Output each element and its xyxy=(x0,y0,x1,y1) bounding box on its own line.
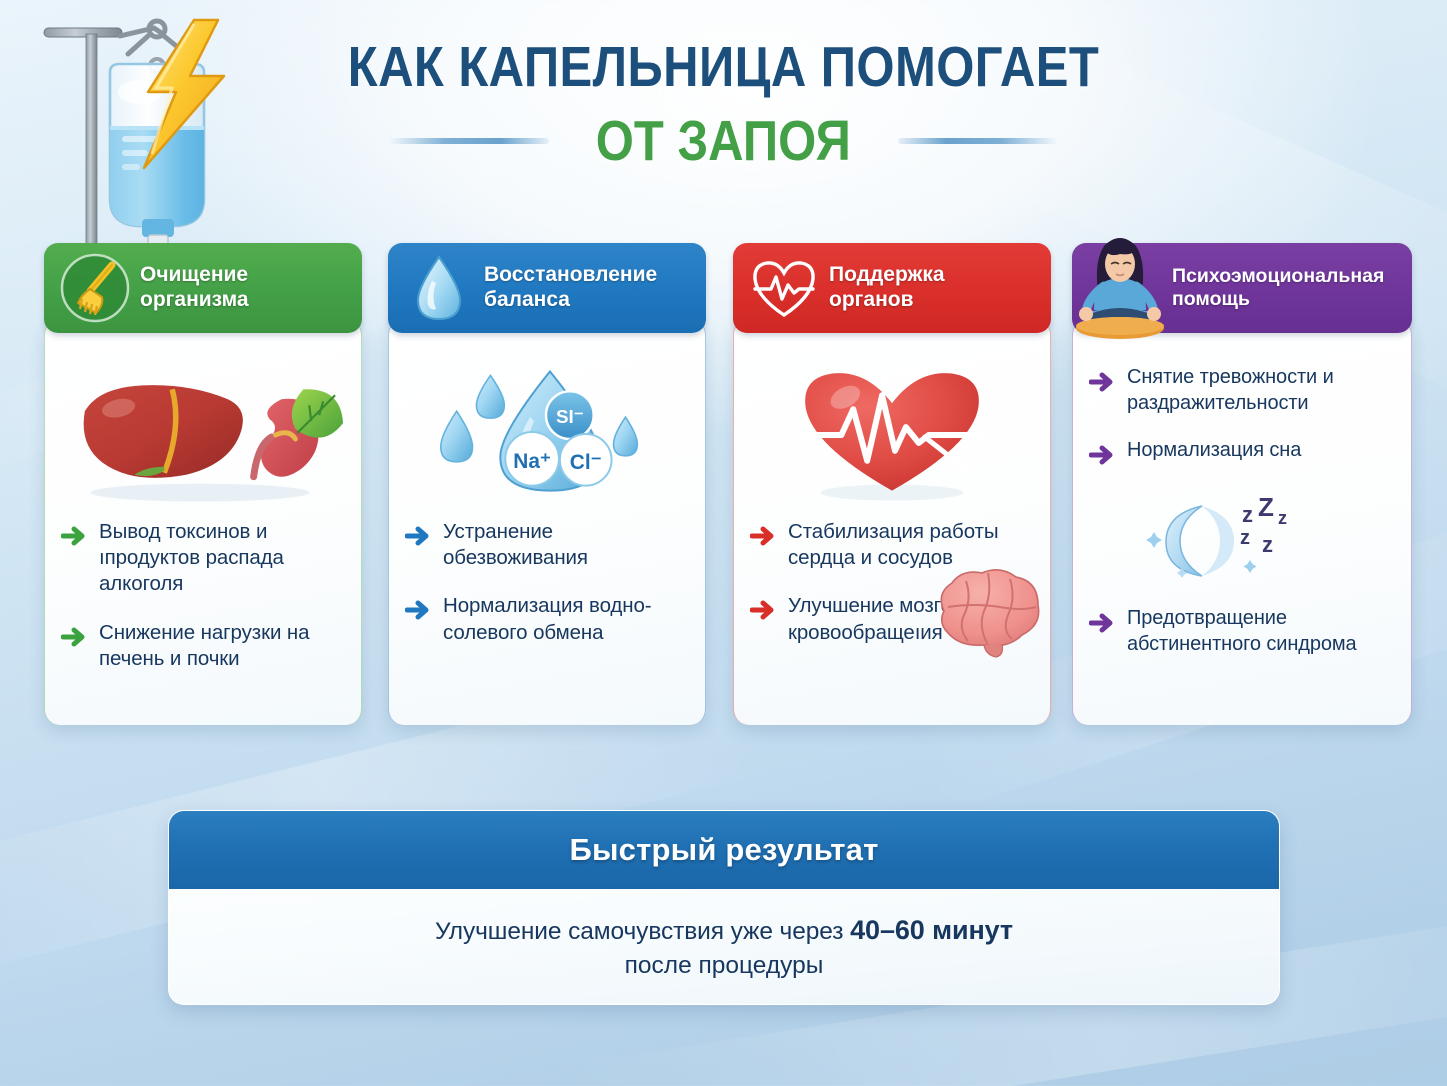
title-line-1: КАК КАПЕЛЬНИЦА ПОМОГАЕТ xyxy=(101,34,1345,100)
arrow-right-icon xyxy=(750,523,777,549)
card-header-line2: органов xyxy=(829,288,914,311)
result-banner-body: Улучшение самочувствия уже через 40–60 м… xyxy=(169,889,1279,1005)
result-banner-line1: Улучшение самочувствия уже через 40–60 м… xyxy=(435,915,1013,946)
title-rule-right xyxy=(898,138,1058,144)
arrow-right-icon xyxy=(61,624,88,650)
arrow-right-icon xyxy=(1089,369,1116,395)
sleeping-moon-zzz-icon: z Z z z z xyxy=(1089,496,1395,582)
card-body-organs: Стабилизация работы сердца и сосудов Улу… xyxy=(733,319,1051,725)
result-banner-line2: после процедуры xyxy=(625,952,824,980)
card-header-line2: организма xyxy=(140,288,249,311)
list-item-label: Нормализация водно-солевого обмена xyxy=(443,593,689,645)
list-item-label: Нормализация сна xyxy=(1127,438,1301,464)
card-header-line1: Очищение xyxy=(140,263,248,286)
benefit-cards: Очищение организма xyxy=(0,243,1447,743)
arrow-right-icon xyxy=(61,523,88,549)
card-organs[interactable]: Поддержка органов xyxy=(733,243,1051,725)
list-item-label: Вывод токсинов и ıпродуктов распада алко… xyxy=(99,519,345,598)
card-cleansing[interactable]: Очищение организма xyxy=(44,243,362,725)
liver-kidney-leaf-illustration xyxy=(61,365,345,505)
card-body-balance: SI⁻ Na⁺ Cl⁻ Устранение обезвоживания xyxy=(388,319,706,725)
card-header-psycho: Психоэмоциональная помощь xyxy=(1072,243,1412,333)
card-body-psycho: Снятие тревожности и раздражительности Н… xyxy=(1072,319,1412,725)
electrolyte-droplets-illustration: SI⁻ Na⁺ Cl⁻ xyxy=(405,365,689,505)
list-item: Нормализация сна xyxy=(1089,438,1395,468)
card-balance[interactable]: Восстановление баланса xyxy=(388,243,706,725)
card-header-label: Очищение организма xyxy=(140,263,249,313)
brain-illustration xyxy=(922,563,1052,659)
title-line-2: ОТ ЗАПОЯ xyxy=(596,108,851,174)
svg-text:z: z xyxy=(1240,527,1250,549)
card-header-line2: помощь xyxy=(1172,288,1250,310)
list-item-label: Снятие тревожности и раздражительности xyxy=(1127,365,1395,416)
ion-label-na: Na⁺ xyxy=(513,450,551,473)
bullet-list-balance: Устранение обезвоживания Нормализация во… xyxy=(405,519,689,646)
list-item-label: Предотвращение абстинентного синдрома xyxy=(1127,606,1395,657)
arrow-right-icon xyxy=(1089,610,1116,636)
bullet-list-psycho: Снятие тревожности и раздражительности Н… xyxy=(1089,365,1395,657)
card-header-line1: Восстановление xyxy=(484,263,657,286)
list-item-label: Снижение нагрузки на печень и почки xyxy=(99,620,345,672)
list-item: Нормализация водно-солевого обмена xyxy=(405,593,689,645)
water-drop-icon xyxy=(398,247,480,329)
heart-with-pulse-illustration xyxy=(750,365,1034,505)
svg-text:Z: Z xyxy=(1258,496,1274,522)
svg-text:z: z xyxy=(1262,532,1273,557)
result-banner: Быстрый результат Улучшение самочувствия… xyxy=(168,810,1280,1005)
ion-label-si: SI⁻ xyxy=(556,406,584,427)
card-header-cleansing: Очищение организма xyxy=(44,243,362,333)
list-item-label: Устранение обезвоживания xyxy=(443,519,689,571)
list-item: Предотвращение абстинентного синдрома xyxy=(1089,606,1395,657)
card-header-organs: Поддержка органов xyxy=(733,243,1051,333)
svg-text:z: z xyxy=(1278,508,1287,528)
bullet-list-cleansing: Вывод токсинов и ıпродуктов распада алко… xyxy=(61,519,345,672)
card-header-line1: Психоэмоциональная xyxy=(1172,265,1384,287)
title-rule-left xyxy=(389,138,549,144)
result-banner-text-prefix: Улучшение самочувствия уже через xyxy=(435,918,850,945)
heart-pulse-outline-icon xyxy=(743,247,825,329)
ion-label-cl: Cl⁻ xyxy=(570,451,602,474)
card-psycho[interactable]: Психоэмоциональная помощь Снятие тревожн… xyxy=(1072,243,1412,725)
list-item: Снижение нагрузки на печень и почки xyxy=(61,620,345,672)
list-item: Устранение обезвоживания xyxy=(405,519,689,571)
card-header-balance: Восстановление баланса xyxy=(388,243,706,333)
card-header-label: Поддержка органов xyxy=(829,263,945,313)
result-banner-header: Быстрый результат xyxy=(169,811,1279,889)
meditating-woman-icon xyxy=(1074,228,1166,340)
arrow-right-icon xyxy=(405,523,432,549)
list-item: Снятие тревожности и раздражительности xyxy=(1089,365,1395,416)
result-banner-highlight: 40–60 минут xyxy=(850,915,1013,945)
arrow-right-icon xyxy=(1089,442,1116,468)
lightning-bolt-icon xyxy=(128,14,238,174)
card-header-line1: Поддержка xyxy=(829,263,945,286)
broom-icon xyxy=(54,247,136,329)
card-header-line2: баланса xyxy=(484,288,570,311)
svg-text:z: z xyxy=(1242,502,1253,527)
result-banner-heading: Быстрый результат xyxy=(570,832,879,868)
list-item: Вывод токсинов и ıпродуктов распада алко… xyxy=(61,519,345,598)
card-header-label: Психоэмоциональная помощь xyxy=(1172,265,1384,311)
card-header-label: Восстановление баланса xyxy=(484,263,657,313)
arrow-right-icon xyxy=(405,597,432,623)
card-body-cleansing: Вывод токсинов и ıпродуктов распада алко… xyxy=(44,319,362,725)
arrow-right-icon xyxy=(750,597,777,623)
